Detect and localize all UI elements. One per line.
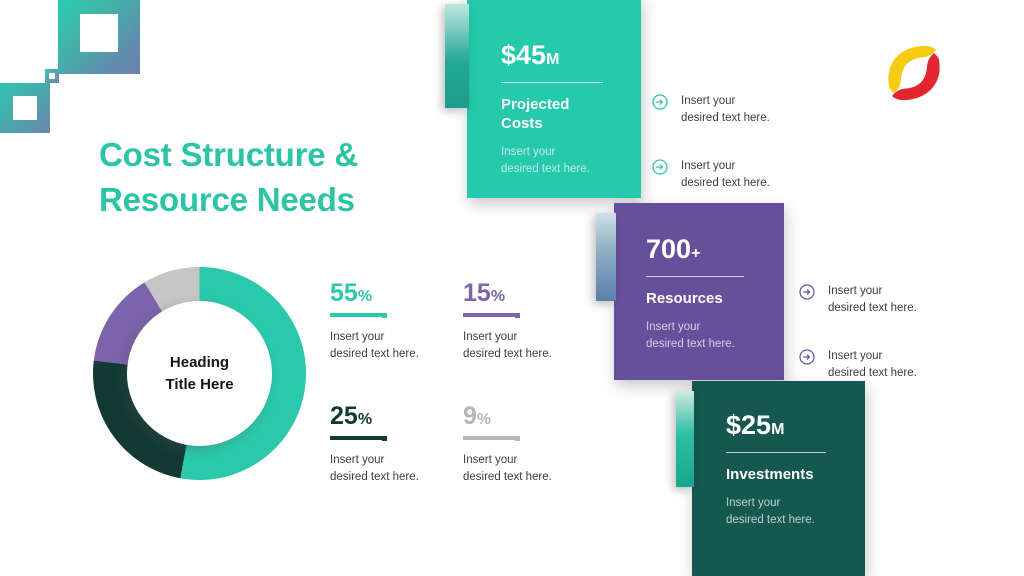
card-content: $25M Investments Insert your desired tex… xyxy=(692,381,865,529)
list-item-text: Insert your desired text here. xyxy=(681,158,770,193)
stat-value: 25% xyxy=(330,404,463,429)
stat-value: 9% xyxy=(463,404,596,429)
stat-rule xyxy=(463,313,515,317)
stat-number: 15 xyxy=(463,279,491,307)
stat-rule xyxy=(330,436,382,440)
list-item[interactable]: Insert your desired text here. xyxy=(652,93,802,128)
card-label: Projected Costs xyxy=(501,96,619,134)
card-divider xyxy=(726,452,826,453)
page-title: Cost Structure & Resource Needs xyxy=(99,133,439,223)
square-cutout xyxy=(13,96,37,120)
bullet-list-projected-costs: Insert your desired text here. Insert yo… xyxy=(652,93,802,207)
card-value: 700+ xyxy=(646,236,764,263)
card-divider xyxy=(501,82,603,83)
stat-rule-dot xyxy=(382,436,387,441)
donut-center-line2: Title Here xyxy=(165,374,233,396)
list-item[interactable]: Insert your desired text here. xyxy=(652,158,802,193)
donut-center-line1: Heading xyxy=(165,352,233,374)
list-item[interactable]: Insert your desired text here. xyxy=(799,283,949,318)
stat-number: 55 xyxy=(330,279,358,307)
list-item-text: Insert your desired text here. xyxy=(828,348,917,383)
donut-center-label: Heading Title Here xyxy=(165,352,233,396)
stat-rule-dot xyxy=(515,313,520,318)
stat-description: Insert your desired text here. xyxy=(330,452,463,487)
stat-item: 25% Insert your desired text here. xyxy=(330,404,463,487)
donut-center-hub: Heading Title Here xyxy=(127,301,272,446)
square-cutout xyxy=(49,73,55,79)
card-description: Insert your desired text here. xyxy=(726,495,845,530)
stat-rule-dot xyxy=(515,436,520,441)
brand-logo xyxy=(881,40,947,106)
metric-card-projected-costs[interactable]: $45M Projected Costs Insert your desired… xyxy=(467,0,641,198)
bullet-list-resources: Insert your desired text here. Insert yo… xyxy=(799,283,949,397)
stat-rule xyxy=(330,313,382,317)
card-value: $25M xyxy=(726,412,845,439)
donut-chart: Heading Title Here xyxy=(93,267,306,480)
list-item-text: Insert your desired text here. xyxy=(681,93,770,128)
arrow-right-circle-icon xyxy=(652,94,668,110)
stat-rule-dot xyxy=(382,313,387,318)
stat-percent-sign: % xyxy=(358,411,372,428)
card-value-number: $25 xyxy=(726,410,771,440)
list-item[interactable]: Insert your desired text here. xyxy=(799,348,949,383)
stat-percent-sign: % xyxy=(491,288,505,305)
list-item-text: Insert your desired text here. xyxy=(828,283,917,318)
card-label: Investments xyxy=(726,466,845,485)
stat-item: 15% Insert your desired text here. xyxy=(463,281,596,364)
card-value: $45M xyxy=(501,42,619,69)
card-accent-bar xyxy=(596,213,616,301)
card-value-unit: + xyxy=(691,245,700,262)
stat-percent-sign: % xyxy=(358,288,372,305)
card-value-number: 700 xyxy=(646,234,691,264)
card-value-unit: M xyxy=(771,421,784,438)
stat-percent-sign: % xyxy=(477,411,491,428)
card-value-unit: M xyxy=(546,51,559,68)
stat-value: 55% xyxy=(330,281,463,306)
card-description: Insert your desired text here. xyxy=(501,144,619,179)
decorative-square-large xyxy=(58,0,140,74)
card-value-number: $45 xyxy=(501,40,546,70)
card-label: Resources xyxy=(646,290,764,309)
stat-item: 9% Insert your desired text here. xyxy=(463,404,596,487)
metric-card-investments[interactable]: $25M Investments Insert your desired tex… xyxy=(692,381,865,576)
stat-value: 15% xyxy=(463,281,596,306)
stat-description: Insert your desired text here. xyxy=(330,329,463,364)
stat-number: 9 xyxy=(463,402,477,430)
stat-description: Insert your desired text here. xyxy=(463,329,596,364)
arrow-right-circle-icon xyxy=(799,349,815,365)
stat-number: 25 xyxy=(330,402,358,430)
square-cutout xyxy=(80,14,118,52)
card-accent-bar xyxy=(445,4,469,108)
percentage-stats-grid: 55% Insert your desired text here. 15% I… xyxy=(330,281,560,486)
card-divider xyxy=(646,276,744,277)
stat-description: Insert your desired text here. xyxy=(463,452,596,487)
metric-card-resources[interactable]: 700+ Resources Insert your desired text … xyxy=(614,203,784,380)
decorative-square-small xyxy=(0,83,50,133)
card-content: $45M Projected Costs Insert your desired… xyxy=(467,0,641,178)
stat-rule xyxy=(463,436,515,440)
card-content: 700+ Resources Insert your desired text … xyxy=(614,203,784,353)
card-description: Insert your desired text here. xyxy=(646,319,764,354)
arrow-right-circle-icon xyxy=(652,159,668,175)
arrow-right-circle-icon xyxy=(799,284,815,300)
decorative-square-tiny xyxy=(45,69,59,83)
stat-item: 55% Insert your desired text here. xyxy=(330,281,463,364)
